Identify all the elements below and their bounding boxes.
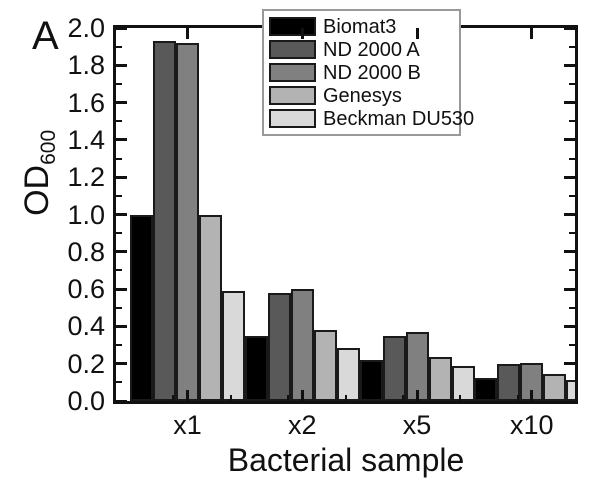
y-tick-minor xyxy=(116,232,122,234)
x-tick-label: x5 xyxy=(377,412,457,439)
bar xyxy=(543,374,566,401)
x-tick-minor xyxy=(402,395,404,401)
x-tick-major-top xyxy=(186,28,189,39)
y-tick-minor-right xyxy=(569,83,575,85)
y-tick-major xyxy=(116,400,127,402)
bar xyxy=(222,291,245,401)
bar xyxy=(153,41,176,401)
bar xyxy=(474,378,497,401)
y-tick-label: 0.6 xyxy=(49,276,105,303)
y-tick-major xyxy=(116,325,127,328)
y-tick-major xyxy=(116,101,127,104)
bar xyxy=(360,360,383,401)
x-tick-label: x1 xyxy=(148,412,228,439)
y-tick-major-right xyxy=(564,213,575,216)
y-tick-minor-right xyxy=(569,232,575,234)
legend-label: Genesys xyxy=(323,86,402,106)
x-tick-major-top xyxy=(530,28,533,39)
legend-label: Beckman DU530 xyxy=(323,109,474,129)
legend-swatch xyxy=(269,86,316,105)
y-tick-label: 1.6 xyxy=(49,90,105,117)
y-tick-label: 1.4 xyxy=(49,127,105,154)
legend-swatch xyxy=(269,109,316,128)
y-tick-major-right xyxy=(564,325,575,328)
y-tick-label: 1.8 xyxy=(49,52,105,79)
y-tick-label: 0.4 xyxy=(49,313,105,340)
y-tick-major-right xyxy=(564,138,575,141)
legend-label: Biomat3 xyxy=(323,17,396,37)
x-tick-major xyxy=(301,390,304,401)
legend-swatch xyxy=(269,17,316,36)
y-tick-major xyxy=(116,176,127,179)
y-tick-minor xyxy=(116,83,122,85)
bar xyxy=(268,293,291,401)
y-tick-major xyxy=(116,64,127,67)
y-tick-major xyxy=(116,362,127,365)
legend-item: ND 2000 A xyxy=(269,38,454,61)
y-tick-minor-right xyxy=(569,344,575,346)
x-tick-major xyxy=(416,390,419,401)
x-tick-minor xyxy=(172,395,174,401)
y-tick-major xyxy=(116,28,127,30)
y-tick-major-right xyxy=(564,176,575,179)
legend-item: Genesys xyxy=(269,84,454,107)
bar xyxy=(176,43,199,401)
y-tick-minor-right xyxy=(569,46,575,48)
y-tick-minor xyxy=(116,120,122,122)
legend-item: Biomat3 xyxy=(269,15,454,38)
bar xyxy=(130,215,153,402)
x-tick-major-top xyxy=(301,28,304,39)
y-tick-major-right xyxy=(564,101,575,104)
y-tick-major-right xyxy=(564,250,575,253)
y-tick-major xyxy=(116,213,127,216)
y-tick-major xyxy=(116,138,127,141)
y-tick-minor-right xyxy=(569,269,575,271)
y-tick-minor-right xyxy=(569,195,575,197)
x-tick-major xyxy=(186,390,189,401)
legend-swatch xyxy=(269,40,316,59)
y-tick-minor xyxy=(116,307,122,309)
y-tick-major xyxy=(116,250,127,253)
x-tick-minor xyxy=(287,395,289,401)
y-tick-minor xyxy=(116,269,122,271)
x-tick-minor xyxy=(517,395,519,401)
x-tick-label: x2 xyxy=(262,412,342,439)
bar xyxy=(429,357,452,401)
y-tick-label: 0.8 xyxy=(49,239,105,266)
x-tick-major xyxy=(530,390,533,401)
y-tick-major-right xyxy=(564,28,575,30)
bar xyxy=(337,348,360,401)
x-axis-label: Bacterial sample xyxy=(113,444,579,476)
legend-swatch xyxy=(269,63,316,82)
x-tick-minor xyxy=(230,395,232,401)
y-tick-label: 0.2 xyxy=(49,351,105,378)
y-tick-minor-right xyxy=(569,307,575,309)
y-tick-minor xyxy=(116,46,122,48)
y-tick-minor xyxy=(116,158,122,160)
y-tick-minor xyxy=(116,381,122,383)
y-tick-minor-right xyxy=(569,120,575,122)
y-tick-minor xyxy=(116,195,122,197)
y-tick-label: 1.0 xyxy=(49,202,105,229)
x-tick-label: x10 xyxy=(492,412,572,439)
y-tick-major-right xyxy=(564,64,575,67)
y-tick-minor xyxy=(116,344,122,346)
legend: Biomat3ND 2000 AND 2000 BGenesysBeckman … xyxy=(262,9,461,136)
bar xyxy=(199,215,222,402)
legend-label: ND 2000 A xyxy=(323,40,420,60)
y-tick-minor-right xyxy=(569,158,575,160)
x-tick-minor xyxy=(345,395,347,401)
x-tick-major-top xyxy=(416,28,419,39)
legend-item: ND 2000 B xyxy=(269,61,454,84)
bar xyxy=(383,336,406,401)
bar xyxy=(245,336,268,401)
legend-label: ND 2000 B xyxy=(323,63,421,83)
y-tick-major-right xyxy=(564,362,575,365)
y-tick-label: 0.0 xyxy=(49,388,105,415)
bar xyxy=(291,289,314,401)
legend-item: Beckman DU530 xyxy=(269,107,454,130)
y-tick-major xyxy=(116,288,127,291)
y-tick-label: 2.0 xyxy=(49,15,105,42)
bar-chart-figure: A OD600 Bacterial sample 0.00.20.40.60.8… xyxy=(0,0,600,486)
x-tick-minor xyxy=(459,395,461,401)
bar xyxy=(314,330,337,401)
y-tick-label: 1.2 xyxy=(49,164,105,191)
y-tick-major-right xyxy=(564,288,575,291)
bar xyxy=(452,366,475,401)
bar xyxy=(566,380,575,401)
